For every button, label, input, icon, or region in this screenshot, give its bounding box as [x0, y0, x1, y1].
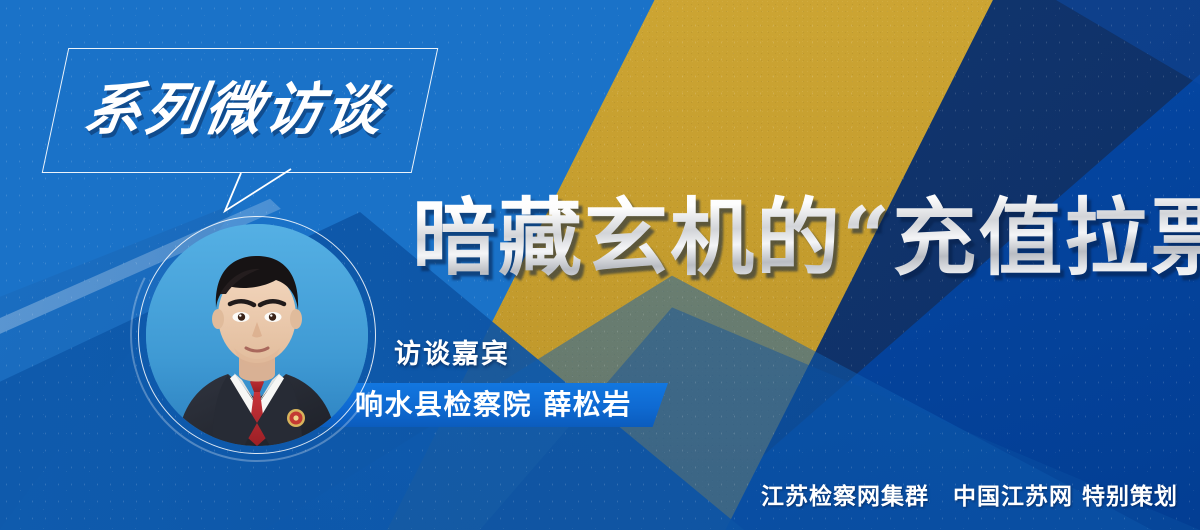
- page-title: 暗藏玄机的“充值拉票”: [412, 186, 1200, 290]
- footer-credit: 江苏检察网集群 中国江苏网 特别策划: [761, 482, 1178, 512]
- guest-label: 访谈嘉宾: [394, 338, 510, 372]
- series-badge-text: 系列微访谈: [78, 64, 393, 156]
- portrait-illustration-icon: [146, 224, 368, 446]
- interview-banner: 系列微访谈 暗藏玄机的“充值拉票” 访谈嘉宾 响水县检察院 薛松岩: [0, 0, 1200, 530]
- series-badge: 系列微访谈: [55, 48, 425, 173]
- avatar-photo: [146, 224, 368, 446]
- avatar: [146, 224, 368, 446]
- guest-name-text: 响水县检察院 薛松岩: [355, 387, 632, 423]
